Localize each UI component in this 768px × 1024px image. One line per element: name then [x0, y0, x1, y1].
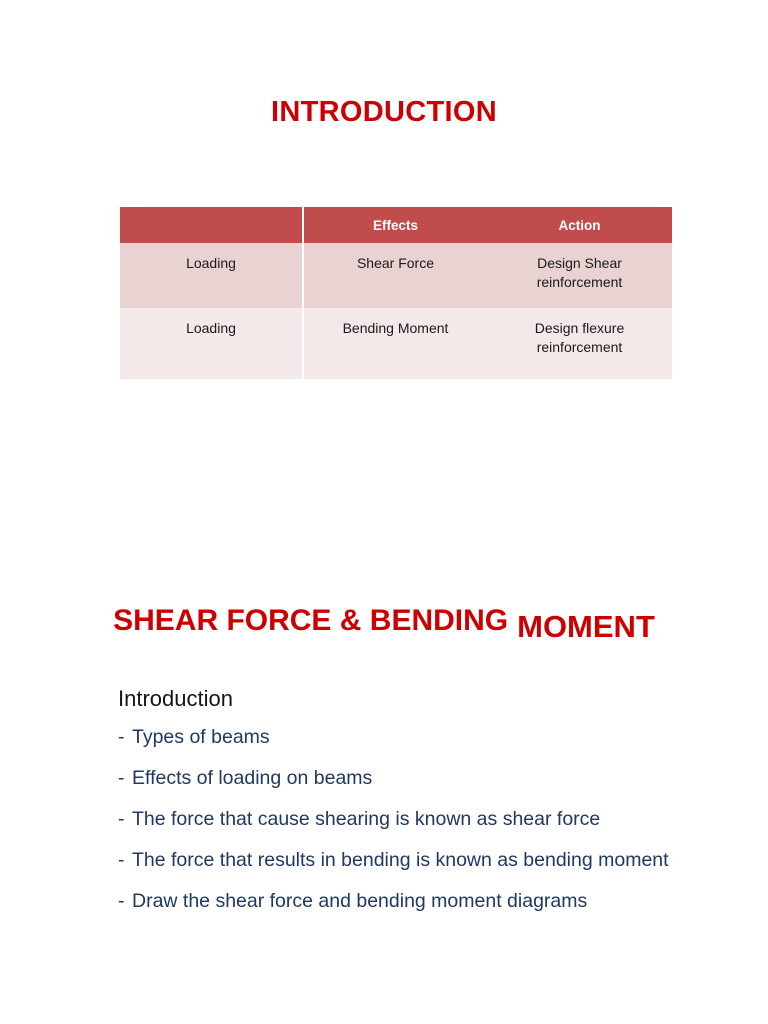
effects-action-table: Effects Action Loading Shear Force Desig…	[120, 207, 673, 379]
list-item: - Effects of loading on beams	[118, 763, 678, 795]
shear-force-bending-moment-slide: SHEAR FORCE & BENDINGMOMENT Introduction…	[0, 590, 768, 1024]
table-cell-action: Design flexure reinforcement	[487, 308, 672, 379]
table-cell-effect: Bending Moment	[303, 308, 487, 379]
list-item: - The force that cause shearing is known…	[118, 804, 678, 836]
list-item: - The force that results in bending is k…	[118, 845, 678, 877]
dash-bullet-icon: -	[118, 722, 125, 754]
page-title: INTRODUCTION	[0, 96, 768, 129]
dash-bullet-icon: -	[118, 763, 125, 795]
dash-bullet-icon: -	[118, 886, 125, 918]
section-title: SHEAR FORCE & BENDINGMOMENT	[0, 602, 768, 638]
table-cell-cause: Loading	[120, 308, 303, 379]
introduction-slide: INTRODUCTION Effects Action Loading Shea…	[0, 0, 768, 590]
table-header: Effects Action	[120, 207, 672, 243]
list-item: - Types of beams	[118, 722, 678, 754]
dash-bullet-icon: -	[118, 804, 125, 836]
table-cell-effect: Shear Force	[303, 243, 487, 308]
table-body: Loading Shear Force Design Shear reinfor…	[120, 243, 672, 379]
content-block: Introduction - Types of beams - Effects …	[118, 686, 678, 926]
table-header-cell-blank	[120, 207, 303, 243]
list-item-label: The force that cause shearing is known a…	[132, 808, 600, 830]
list-item-label: Effects of loading on beams	[132, 767, 372, 789]
table-row: Loading Shear Force Design Shear reinfor…	[120, 243, 672, 308]
table-header-cell-action: Action	[487, 207, 672, 243]
list-item: - Draw the shear force and bending momen…	[118, 886, 678, 918]
table-cell-cause: Loading	[120, 243, 303, 308]
section-title-part-b: MOMENT	[517, 609, 655, 644]
topics-list: - Types of beams - Effects of loading on…	[118, 722, 678, 917]
dash-bullet-icon: -	[118, 845, 125, 877]
table-header-row: Effects Action	[120, 207, 672, 243]
table-cell-action: Design Shear reinforcement	[487, 243, 672, 308]
section-title-part-a: SHEAR FORCE & BENDING	[113, 604, 508, 637]
list-item-label: Draw the shear force and bending moment …	[132, 890, 587, 912]
content-heading: Introduction	[118, 686, 678, 712]
list-item-label: The force that results in bending is kno…	[132, 849, 669, 871]
table-row: Loading Bending Moment Design flexure re…	[120, 308, 672, 379]
list-item-label: Types of beams	[132, 726, 270, 748]
table-header-cell-effects: Effects	[303, 207, 487, 243]
